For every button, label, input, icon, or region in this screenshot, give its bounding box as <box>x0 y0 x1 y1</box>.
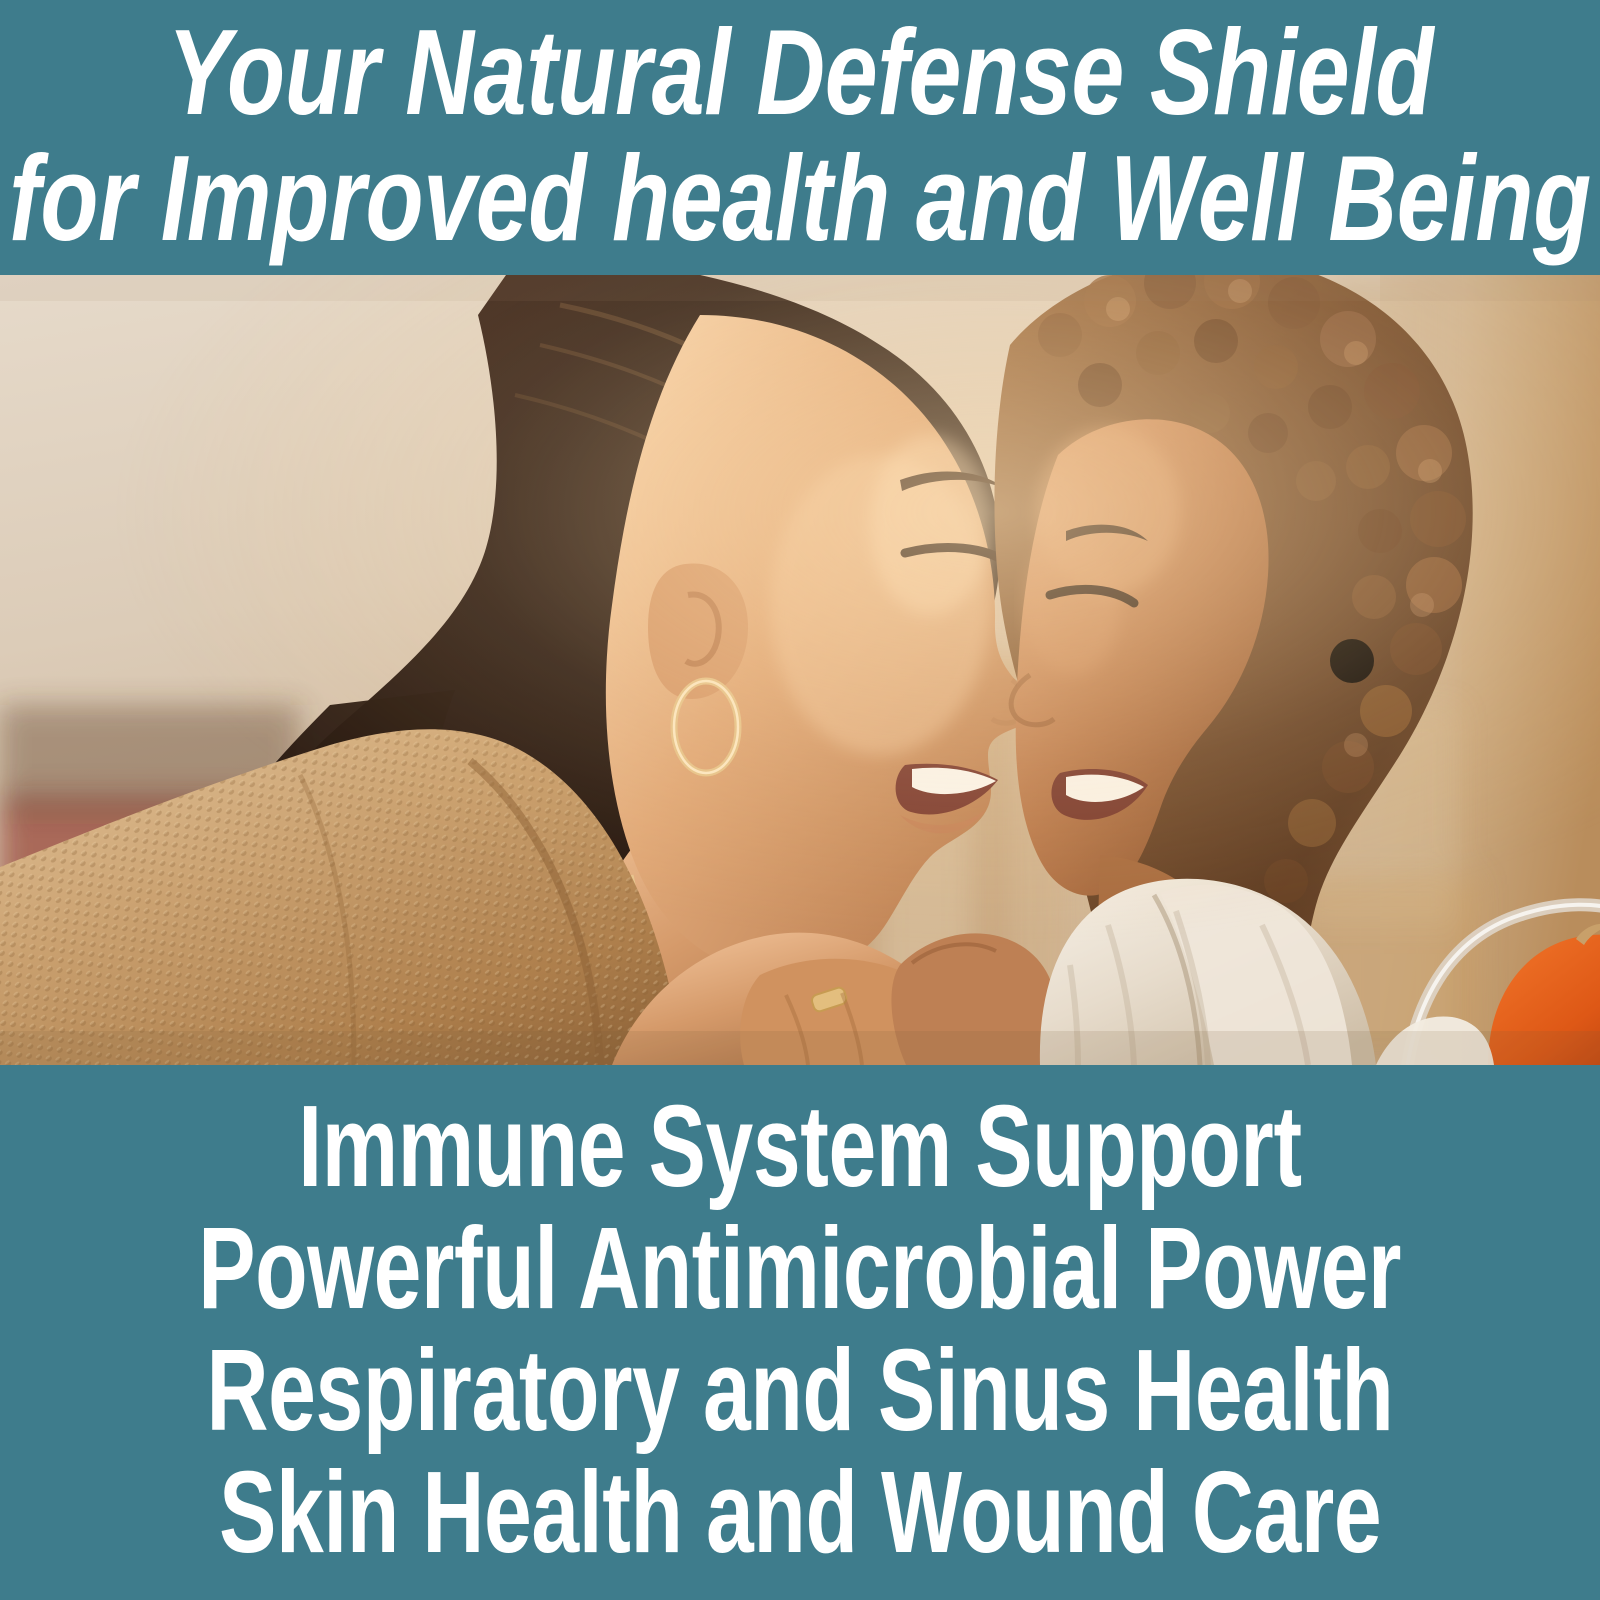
warm-light-overlay <box>0 275 1600 1065</box>
benefit-line-3: Respiratory and Sinus Health <box>207 1332 1394 1448</box>
headline-line-2: for Improved health and Well Being <box>9 137 1591 259</box>
hero-photo-illustration <box>0 275 1600 1065</box>
benefit-line-2: Powerful Antimicrobial Power <box>199 1210 1402 1326</box>
hero-photo <box>0 275 1600 1065</box>
promo-poster: Your Natural Defense Shield for Improved… <box>0 0 1600 1600</box>
benefit-line-1: Immune System Support <box>298 1088 1301 1204</box>
headline-line-1: Your Natural Defense Shield <box>167 11 1433 133</box>
benefit-line-4: Skin Health and Wound Care <box>219 1454 1381 1570</box>
header-banner: Your Natural Defense Shield for Improved… <box>0 0 1600 275</box>
benefits-banner: Immune System Support Powerful Antimicro… <box>0 1065 1600 1600</box>
